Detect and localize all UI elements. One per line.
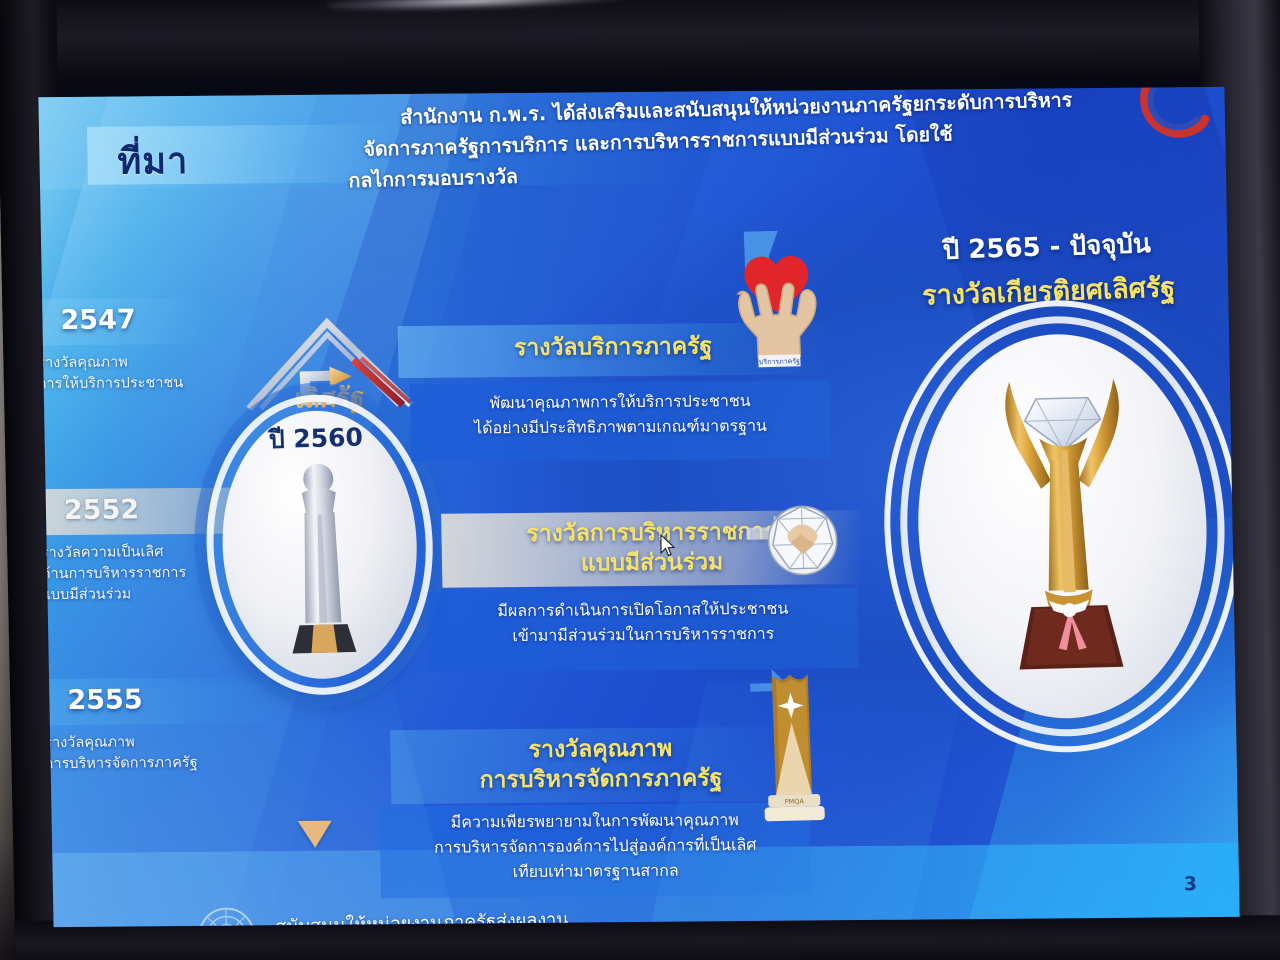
timeline-year-2552: 2552 [64, 494, 225, 526]
award-1-desc: พัฒนาคุณภาพการให้บริการประชาชน ได้อย่างม… [410, 387, 831, 441]
timeline-year-2555: 2555 [67, 684, 228, 716]
handshake-gem-icon [745, 487, 845, 595]
award-desc-line: มีผลการดำเนินการเปิดโอกาสให้ประชาชน [428, 595, 858, 624]
timeline-desc-line: การบริหารจัดการภาครัฐ [44, 752, 254, 775]
united-nations-emblem-icon [182, 894, 271, 927]
award-3-desc: มีความเพียรพยายามในการพัฒนาคุณภาพ การบริ… [380, 807, 811, 886]
hands-holding-heart-icon: บริการภาครัฐ [730, 230, 825, 372]
award-3-title: รางวัลคุณภาพ การบริหารจัดการภาครัฐ [390, 733, 811, 797]
bezel-top [0, 0, 1280, 85]
gold-triangle-marker [298, 821, 332, 848]
silver-trophy-icon [266, 457, 378, 672]
award-title-line: รางวัลคุณภาพ [390, 733, 811, 767]
timeline-desc-line: รางวัลคุณภาพ [44, 731, 254, 754]
mouse-cursor [660, 534, 676, 558]
award-desc-line: เทียบเท่ามาตรฐานสากล [380, 857, 810, 886]
slide-page-number: 3 [1184, 873, 1198, 895]
gold-pillar-trophy-icon: PMQA [749, 662, 835, 844]
center-badge-year: ปี 2560 [202, 416, 429, 462]
presentation-slide: ที่มา สำนักงาน ก.พ.ร. ได้ส่งเสริมและสนับ… [38, 87, 1239, 927]
gold-trophy-icon [975, 362, 1158, 684]
svg-text:บริการภาครัฐ: บริการภาครัฐ [759, 357, 800, 366]
highlight-trophy-badge [876, 296, 1239, 757]
award-desc-line: มีความเพียรพยายามในการพัฒนาคุณภาพ [380, 807, 810, 836]
kpr-corner-logo-icon: ก.พ.ร. [1076, 87, 1218, 164]
award-2-desc: มีผลการดำเนินการเปิดโอกาสให้ประชาชน เข้า… [428, 595, 859, 649]
award-desc-line: การบริหารจัดการองค์การไปสู่องค์การที่เป็… [380, 832, 810, 861]
timeline-desc-2555: รางวัลคุณภาพ การบริหารจัดการภาครัฐ [44, 731, 255, 775]
award-desc-line: ได้อย่างมีประสิทธิภาพตามเกณฑ์มาตรฐาน [410, 412, 830, 441]
screenshot-scene: ที่มา สำนักงาน ก.พ.ร. ได้ส่งเสริมและสนับ… [0, 0, 1280, 960]
corner-logo-text: ก.พ.ร. [1150, 87, 1218, 89]
award-desc-line: พัฒนาคุณภาพการให้บริการประชาชน [410, 387, 830, 416]
timeline-desc-line: รางวัลคุณภาพ [38, 351, 247, 374]
center-year-badge: ปี 2560 [201, 392, 438, 698]
timeline-year-2547: 2547 [60, 304, 221, 336]
award-desc-line: เข้ามามีส่วนร่วมในการบริหารราชการ [428, 620, 858, 649]
svg-text:PMQA: PMQA [785, 797, 805, 806]
page-title: ที่มา [117, 132, 189, 190]
timeline-desc-2547: รางวัลคุณภาพ การให้บริการประชาชน [38, 351, 247, 395]
timeline-desc-line: การให้บริการประชาชน [38, 372, 247, 395]
award-title-line: การบริหารจัดการภาครัฐ [391, 762, 812, 796]
